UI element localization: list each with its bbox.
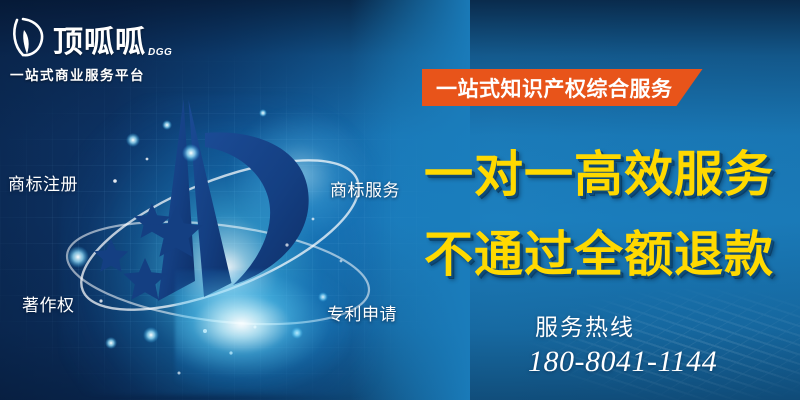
promo-ribbon-text: 一站式知识产权综合服务 [436,73,673,103]
brand-tagline: 一站式商业服务平台 [10,64,185,84]
service-label-patent-application: 专利申请 [327,300,397,325]
hotline-label: 服务热线 [535,308,635,342]
background-watermark-texture [470,280,800,400]
dgg-leaf-mark-icon [10,14,50,60]
brand-logo[interactable]: 顶呱呱 DGG 一站式商业服务平台 [10,12,185,84]
service-label-trademark-service: 商标服务 [330,176,400,201]
brand-name: 顶呱呱 [53,26,146,60]
promo-headline-primary: 一对一高效服务 [424,148,774,202]
service-label-trademark-registration: 商标注册 [8,170,78,195]
service-label-copyright: 著作权 [22,291,75,316]
promo-headline-secondary: 不通过全额退款 [424,228,774,282]
promotional-banner: 顶呱呱 DGG 一站式商业服务平台 商标注册 商标服务 著作权 专利申请 一站式… [0,0,800,400]
brand-abbreviation: DGG [148,47,172,60]
hotline-number[interactable]: 180-8041-1144 [528,345,717,379]
background-glow-base [175,270,350,390]
promo-ribbon: 一站式知识产权综合服务 [422,69,703,106]
